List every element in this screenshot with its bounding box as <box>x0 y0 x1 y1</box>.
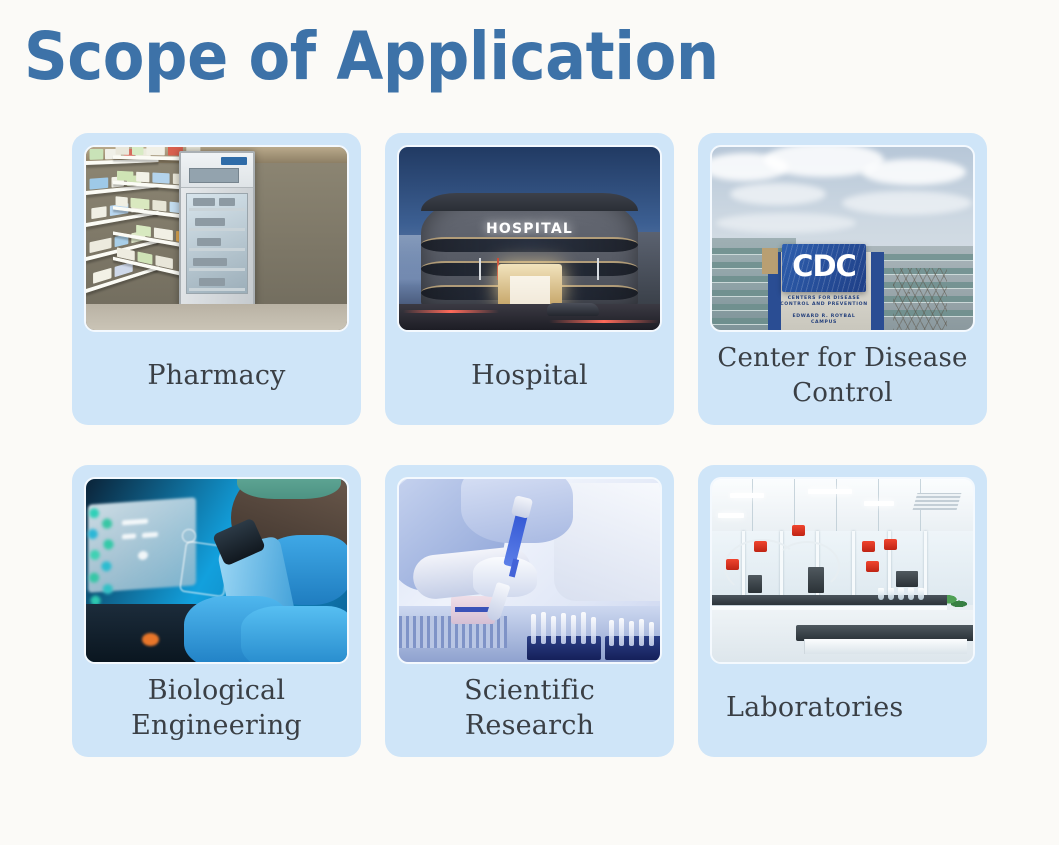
card-label-scientific-research: Scientific Research <box>397 664 662 757</box>
laboratories-photo <box>710 477 975 664</box>
cdc-sign-photo: CDC CENTERS FOR DISEASE CONTROL AND PREV… <box>710 145 975 332</box>
card-scientific-research[interactable]: Scientific Research <box>385 465 674 757</box>
card-pharmacy[interactable]: Pharmacy <box>72 133 361 425</box>
card-label-laboratories: Laboratories <box>710 664 975 757</box>
card-label-pharmacy: Pharmacy <box>84 332 349 425</box>
scientific-research-photo <box>397 477 662 664</box>
card-center-for-disease-control[interactable]: CDC CENTERS FOR DISEASE CONTROL AND PREV… <box>698 133 987 425</box>
card-label-hospital: Hospital <box>397 332 662 425</box>
hospital-sign-text: HOSPITAL <box>486 221 573 237</box>
card-laboratories[interactable]: Laboratories <box>698 465 987 757</box>
cdc-sign-text: CDC <box>782 251 866 282</box>
page-title: Scope of Application <box>24 16 719 98</box>
card-label-center-for-disease-control: Center for Disease Control <box>710 332 975 425</box>
card-label-biological-engineering: Biological Engineering <box>84 664 349 757</box>
card-biological-engineering[interactable]: Biological Engineering <box>72 465 361 757</box>
application-card-grid: Pharmacy HOSPITAL <box>72 133 988 757</box>
hospital-building-photo: HOSPITAL <box>397 145 662 332</box>
cdc-sign-subtitle-line2: CONTROL AND PREVENTION <box>770 302 878 308</box>
biological-engineering-photo <box>84 477 349 664</box>
card-hospital[interactable]: HOSPITAL Hospit <box>385 133 674 425</box>
slide-root: Scope of Application <box>0 0 1059 845</box>
cdc-sign-subtitle-line4: CAMPUS <box>770 320 878 326</box>
pharmacy-aisle-photo <box>84 145 349 332</box>
